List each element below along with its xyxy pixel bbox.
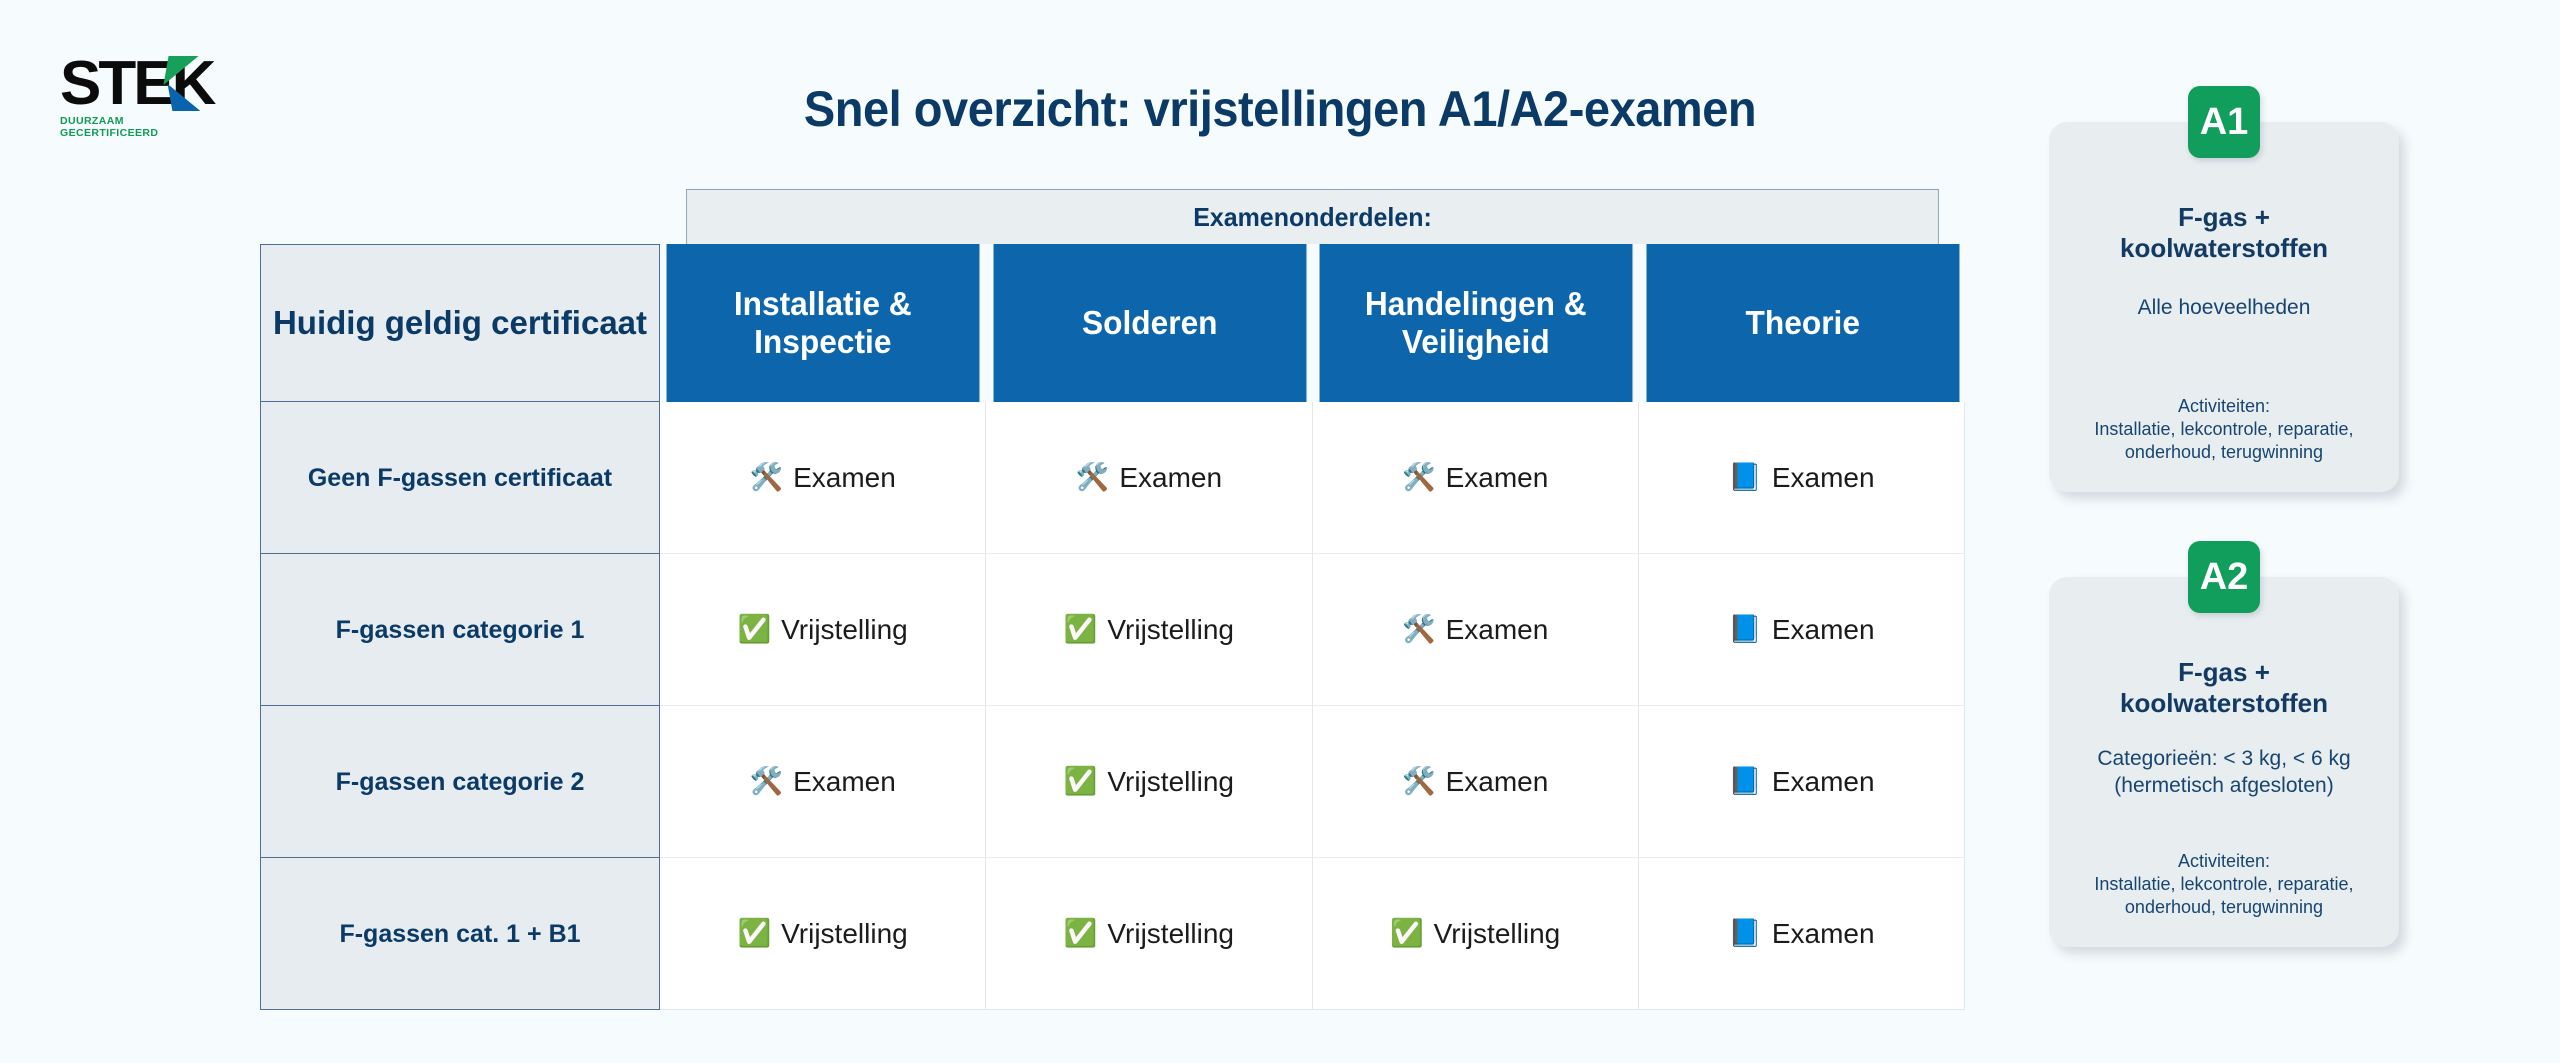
table-cell: 📘 Examen: [1639, 402, 1965, 554]
table-row: F-gassen categorie 1 ✅ Vrijstelling ✅ Vr…: [260, 554, 1965, 706]
card-subtitle: Alle hoeveelheden: [2075, 294, 2373, 321]
column-header-theorie: Theorie: [1646, 244, 1958, 402]
info-card-a2: A2 F-gas + koolwaterstoffen Categorieën:…: [2049, 577, 2399, 947]
green-check-icon: ✅: [738, 920, 772, 947]
cell-text: Examen: [1772, 462, 1875, 494]
cell-text: Examen: [1772, 766, 1875, 798]
table-cell: 🛠️ Examen: [660, 706, 986, 858]
hammer-and-wrench-icon: 🛠️: [1076, 464, 1110, 491]
row-label: F-gassen cat. 1 + B1: [260, 858, 660, 1010]
row-label: Geen F-gassen certificaat: [260, 402, 660, 554]
table-cell: ✅ Vrijstelling: [986, 858, 1312, 1010]
card-title: F-gas + koolwaterstoffen: [2075, 657, 2373, 719]
table-cell: 🛠️ Examen: [986, 402, 1312, 554]
hammer-and-wrench-icon: 🛠️: [1402, 464, 1436, 491]
card-activities: Activiteiten: Installatie, lekcontrole, …: [2071, 395, 2377, 464]
blue-book-icon: 📘: [1728, 768, 1762, 795]
table-cell: 🛠️ Examen: [1313, 402, 1639, 554]
column-header-huidig-geldig-certificaat: Huidig geldig certificaat: [260, 244, 660, 402]
row-label: F-gassen categorie 1: [260, 554, 660, 706]
blue-book-icon: 📘: [1728, 464, 1762, 491]
table-cell: 📘 Examen: [1639, 554, 1965, 706]
cell-text: Vrijstelling: [1107, 918, 1234, 950]
logo-wordmark: STEK: [60, 55, 220, 113]
hammer-and-wrench-icon: 🛠️: [1402, 616, 1436, 643]
table-cell: 📘 Examen: [1639, 706, 1965, 858]
stek-logo: STEK DUURZAAM GECERTIFICEERD: [60, 55, 220, 139]
table-cell: ✅ Vrijstelling: [986, 554, 1312, 706]
column-header-installatie-inspectie: Installatie & Inspectie: [667, 244, 980, 402]
table-cell: ✅ Vrijstelling: [1313, 858, 1639, 1010]
cell-text: Vrijstelling: [1434, 918, 1561, 950]
card-title: F-gas + koolwaterstoffen: [2075, 202, 2373, 264]
hammer-and-wrench-icon: 🛠️: [749, 768, 783, 795]
green-check-icon: ✅: [1064, 768, 1098, 795]
table-header-row: Huidig geldig certificaat Installatie & …: [260, 244, 1965, 402]
table-row: F-gassen cat. 1 + B1 ✅ Vrijstelling ✅ Vr…: [260, 858, 1965, 1010]
table-group-header-row: Examenonderdelen:: [260, 189, 1965, 244]
table-cell: 📘 Examen: [1639, 858, 1965, 1010]
column-header-solderen: Solderen: [993, 244, 1306, 402]
green-check-icon: ✅: [738, 616, 772, 643]
logo-k-blue-shape: [168, 84, 201, 111]
hammer-and-wrench-icon: 🛠️: [749, 464, 783, 491]
logo-tagline: DUURZAAM GECERTIFICEERD: [60, 115, 220, 139]
hammer-and-wrench-icon: 🛠️: [1402, 768, 1436, 795]
card-activities-text: Installatie, lekcontrole, reparatie, ond…: [2071, 873, 2377, 919]
table-cell: ✅ Vrijstelling: [660, 554, 986, 706]
cell-text: Examen: [1772, 918, 1875, 950]
table-cell: ✅ Vrijstelling: [660, 858, 986, 1010]
table-cell: 🛠️ Examen: [660, 402, 986, 554]
column-header-handelingen-veiligheid: Handelingen & Veiligheid: [1320, 244, 1633, 402]
cell-text: Vrijstelling: [781, 614, 908, 646]
table-row: F-gassen categorie 2 🛠️ Examen ✅ Vrijste…: [260, 706, 1965, 858]
blue-book-icon: 📘: [1728, 616, 1762, 643]
green-check-icon: ✅: [1064, 920, 1098, 947]
group-header-examenonderdelen: Examenonderdelen:: [686, 189, 1939, 244]
card-activities-label: Activiteiten:: [2071, 850, 2377, 873]
card-activities-text: Installatie, lekcontrole, reparatie, ond…: [2071, 418, 2377, 464]
cell-text: Vrijstelling: [1107, 766, 1234, 798]
table-row: Geen F-gassen certificaat 🛠️ Examen 🛠️ E…: [260, 402, 1965, 554]
cell-text: Vrijstelling: [1107, 614, 1234, 646]
exemptions-table: Examenonderdelen: Huidig geldig certific…: [260, 189, 1965, 1010]
badge-a1: A1: [2188, 86, 2260, 158]
cell-text: Vrijstelling: [781, 918, 908, 950]
logo-k-green-shape: [163, 56, 198, 85]
card-activities-label: Activiteiten:: [2071, 395, 2377, 418]
table-cell: ✅ Vrijstelling: [986, 706, 1312, 858]
row-label: F-gassen categorie 2: [260, 706, 660, 858]
cell-text: Examen: [793, 766, 896, 798]
table-cell: 🛠️ Examen: [1313, 554, 1639, 706]
table-cell: 🛠️ Examen: [1313, 706, 1639, 858]
green-check-icon: ✅: [1390, 920, 1424, 947]
group-header-spacer: [260, 189, 660, 244]
info-card-a1: A1 F-gas + koolwaterstoffen Alle hoeveel…: [2049, 122, 2399, 492]
cell-text: Examen: [1119, 462, 1222, 494]
badge-a2: A2: [2188, 541, 2260, 613]
card-activities: Activiteiten: Installatie, lekcontrole, …: [2071, 850, 2377, 919]
cell-text: Examen: [1446, 614, 1549, 646]
green-check-icon: ✅: [1064, 616, 1098, 643]
cell-text: Examen: [1446, 462, 1549, 494]
cell-text: Examen: [1772, 614, 1875, 646]
blue-book-icon: 📘: [1728, 920, 1762, 947]
cell-text: Examen: [793, 462, 896, 494]
cell-text: Examen: [1446, 766, 1549, 798]
page-title: Snel overzicht: vrijstellingen A1/A2-exa…: [641, 80, 1919, 138]
card-subtitle: Categorieën: < 3 kg, < 6 kg (hermetisch …: [2075, 745, 2373, 799]
